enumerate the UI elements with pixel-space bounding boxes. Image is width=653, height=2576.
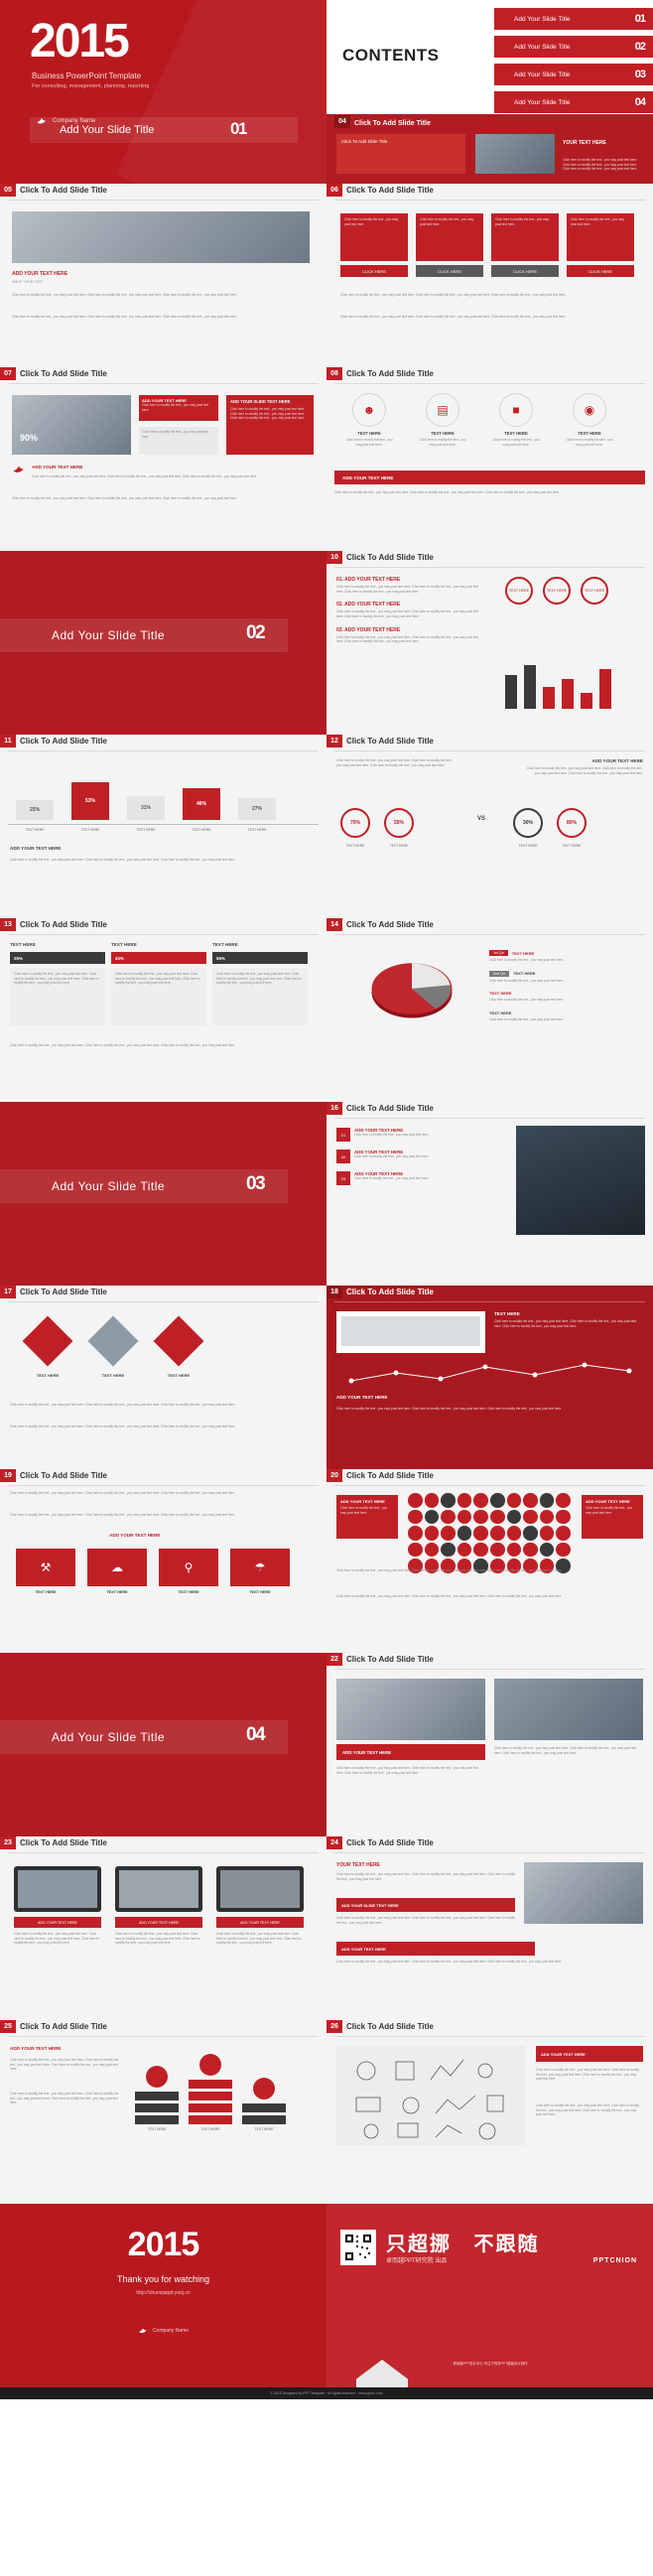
slide-13-num: 13 — [0, 918, 16, 931]
slide-18-num: 18 — [326, 1286, 342, 1298]
slide-07-body2: Click here to modify the text , you may … — [12, 496, 314, 501]
slide-04-title: Click To Add Slide Title — [354, 120, 431, 127]
slide-12-label-3: TEXT HERE — [513, 844, 543, 848]
slide-07-box2-title: ADD YOUR SLIDE TEXT HERE — [230, 399, 310, 404]
slide-05-body2: Click here to modify the text , you may … — [12, 315, 310, 320]
slide-19-body2: Click here to modify the text , you may … — [10, 1513, 313, 1518]
slide-23-item-1[interactable]: ADD YOUR TEXT HERE Click here to modify … — [14, 1866, 101, 1946]
slide-11-num: 11 — [0, 735, 16, 747]
slide-05-sub2: MAKE YOUR TEXT — [12, 280, 44, 284]
slide-14-num: 14 — [326, 918, 342, 931]
cloud-icon: ☁ — [87, 1549, 147, 1586]
slide-17-diamond-2-label: TEXT HERE — [95, 1373, 131, 1378]
slide-06-title: Click To Add Slide Title — [346, 186, 434, 195]
slide-24-body3: Click here to modify the text , you may … — [336, 1960, 639, 1965]
slide-17-body2: Click here to modify the text , you may … — [10, 1424, 313, 1429]
slide-04-photo — [475, 134, 555, 174]
slide-12-left-body: Click here to modify the text , you may … — [336, 758, 456, 767]
slide-14[interactable]: 14 Click To Add Slide Title 1st Qtr TEXT… — [326, 918, 653, 1102]
slide-05[interactable]: 05 Click To Add Slide Title ADD YOUR TEX… — [0, 184, 326, 367]
slide-08-body: Click here to modify the text , you may … — [334, 490, 645, 495]
slide-07-divider — [8, 383, 319, 384]
slide-22-photo-right — [494, 1679, 643, 1740]
slide-06[interactable]: 06 Click To Add Slide Title Click here t… — [326, 184, 653, 367]
ending-company: Company Name — [153, 2328, 189, 2334]
contents-item-3[interactable]: Add Your Slide Title 03 — [494, 64, 653, 85]
slide-12-right-body: Click here to modify the text , you may … — [524, 766, 643, 775]
slide-10-list-3-text: Click here to modify the text , you may … — [336, 635, 485, 644]
slide-14-legend-1: 1st Qtr TEXT HERE — [489, 950, 638, 956]
slide-11-pct-4: 46% — [183, 788, 220, 820]
slide-11-bar-3: 31% — [127, 796, 165, 820]
slide-07-box3-text: Click here to modify the text , you may … — [142, 430, 215, 439]
slide-17[interactable]: 17 Click To Add Slide Title TEXT HERE TE… — [0, 1286, 326, 1469]
slide-23-laptops: ADD YOUR TEXT HERE Click here to modify … — [14, 1866, 304, 1946]
slide-07-bird-icon — [12, 463, 26, 476]
slide-10-num: 10 — [326, 551, 342, 564]
divider-04-num: 04 — [246, 1724, 264, 1746]
bar-1 — [505, 675, 517, 709]
slide-11-pct-3: 31% — [127, 796, 165, 820]
slide-23-item-2[interactable]: ADD YOUR TEXT HERE Click here to modify … — [115, 1866, 202, 1946]
slide-23-cap-2: ADD YOUR TEXT HERE — [115, 1917, 202, 1928]
slide-12-label-2: TEXT HERE — [384, 844, 414, 848]
slide-12-left-pct-1: 70% — [340, 808, 370, 838]
slide-12[interactable]: 12 Click To Add Slide Title Click here t… — [326, 735, 653, 918]
slide-13-divider — [8, 934, 319, 935]
slide-divider-03[interactable]: Add Your Slide Title 03 — [0, 1102, 326, 1286]
slide-cover[interactable]: 2015 Business PowerPoint Template For co… — [0, 0, 326, 184]
slide-13-body: Click here to modify the text , you may … — [10, 1043, 313, 1048]
slide-06-card-4-text: Click here to modify the text , you may … — [571, 217, 630, 226]
slide-07-box2-text: Click here to modify the text , you may … — [230, 407, 310, 421]
promo-brand: PPTCNION — [593, 2257, 637, 2264]
slide-06-card-2-btn[interactable]: CLICK HERE — [416, 265, 483, 277]
slide-08-icon-4[interactable]: ◉ TEXT HERE Click here to modify the tex… — [565, 393, 614, 447]
slide-20-dot-matrix — [408, 1493, 571, 1551]
diamond-icon-3 — [154, 1316, 204, 1367]
slide-06-card-4-body: Click here to modify the text , you may … — [567, 213, 634, 261]
contents-item-1-num: 01 — [635, 13, 645, 25]
slide-11-pct-1: 25% — [16, 800, 54, 820]
slide-07-photo — [12, 395, 131, 455]
slide-05-photo — [12, 211, 310, 263]
slide-14-legend-3-label: TEXT HERE — [489, 991, 638, 996]
slide-10-bars — [505, 659, 611, 709]
slide-13-col-1-val: 25% — [10, 952, 105, 964]
slide-14-legend-2-chip: 2nd Qtr — [489, 971, 509, 977]
promo-cn-main: 只超挪 — [386, 2234, 452, 2255]
slide-25-body: Click here to modify the text , you may … — [10, 2058, 119, 2072]
slide-08-icon-2[interactable]: ▤ TEXT HERE Click here to modify the tex… — [418, 393, 467, 447]
slide-23-text-2: Click here to modify the text , you may … — [115, 1932, 202, 1946]
slide-promo[interactable]: 只超挪 不跟随 卓而越PPT研究院 出品 PPTCNION 卓而越PPT设计中心… — [326, 2204, 653, 2387]
slide-19-tile-3[interactable]: ⚲ TEXT HERE — [159, 1549, 218, 1594]
slide-08-icon-2-text: Click here to modify the text , you may … — [418, 438, 467, 447]
slide-20-head-right: ADD YOUR TEXT HERE — [586, 1499, 639, 1504]
people-icon: ☻ — [352, 393, 386, 427]
slide-26-body2: Click here to modify the text , you may … — [536, 2103, 643, 2117]
slide-04-head: Click To Add Slide Title — [336, 134, 465, 150]
slide-08-icon-4-text: Click here to modify the text , you may … — [565, 438, 614, 447]
slide-17-body: Click here to modify the text , you may … — [10, 1403, 313, 1408]
slide-19-head: ADD YOUR TEXT HERE — [109, 1533, 160, 1538]
slide-16-row-2-body: ADD YOUR TEXT HERE Click here to modify … — [354, 1150, 505, 1163]
slide-26-title: Click To Add Slide Title — [346, 2022, 434, 2031]
contents-item-4-label: Add Your Slide Title — [514, 99, 570, 106]
slide-07-box1-text: Click here to modify the text , you may … — [142, 403, 215, 412]
slide-ending[interactable]: 2015 Thank you for watching http://zhuoq… — [0, 2204, 326, 2387]
slide-14-legend-1-text: Click here to modify the text , you may … — [489, 958, 638, 963]
slide-18-head: TEXT HERE — [494, 1311, 643, 1316]
slide-14-legend-4-text: Click here to modify the text , you may … — [489, 1017, 638, 1022]
slide-13[interactable]: 13 Click To Add Slide Title TEXT HERE TE… — [0, 918, 326, 1102]
slide-17-diamond-3-label: TEXT HERE — [161, 1373, 196, 1378]
slide-13-col-3-val: 55% — [212, 952, 308, 964]
diamond-icon-1 — [23, 1316, 73, 1367]
slide-08-banner: ADD YOUR TEXT HERE — [334, 471, 645, 484]
slide-11-title: Click To Add Slide Title — [20, 737, 107, 746]
slide-12-labels-left: TEXT HERE TEXT HERE — [340, 844, 414, 848]
slide-14-divider — [334, 934, 645, 935]
slide-04-num: 04 — [334, 115, 350, 128]
slide-06-card-3-text: Click here to modify the text , you may … — [495, 217, 555, 226]
slide-10-chip-1[interactable]: TEXT HERE — [505, 577, 533, 605]
slide-16-title: Click To Add Slide Title — [346, 1104, 434, 1113]
slide-17-title: Click To Add Slide Title — [20, 1288, 107, 1296]
divider-02-num: 02 — [246, 622, 264, 644]
slide-16-row-3-body: ADD YOUR TEXT HERE Click here to modify … — [354, 1171, 505, 1185]
slide-19-body: Click here to modify the text , you may … — [10, 1491, 313, 1496]
slide-12-head: ADD YOUR TEXT HERE — [524, 758, 643, 763]
slide-23-cap-1: ADD YOUR TEXT HERE — [14, 1917, 101, 1928]
slide-11-pct-5: 27% — [238, 798, 276, 820]
slide-20-num: 20 — [326, 1469, 342, 1482]
contents-item-4[interactable]: Add Your Slide Title 04 — [494, 91, 653, 113]
slide-16[interactable]: 16 Click To Add Slide Title 01 ADD YOUR … — [326, 1102, 653, 1286]
slide-06-card-1[interactable]: Click here to modify the text , you may … — [340, 213, 408, 277]
qr-code-icon — [340, 2230, 376, 2265]
slide-14-legend-2-text: Click here to modify the text , you may … — [489, 979, 638, 984]
slide-20-text-left: Click here to modify the text , you may … — [340, 1506, 394, 1515]
slide-18-right: TEXT HERE Click here to modify the text … — [494, 1311, 643, 1328]
row-5: 11 Click To Add Slide Title 25% 53% 31% … — [0, 735, 653, 918]
slide-divider-04[interactable]: Add Your Slide Title 04 — [0, 1653, 326, 1836]
slide-06-card-4[interactable]: Click here to modify the text , you may … — [567, 213, 634, 277]
slide-14-piechart — [366, 954, 457, 1028]
tools-icon: ⚒ — [16, 1549, 75, 1586]
slide-20[interactable]: 20 Click To Add Slide Title ADD YOUR TEX… — [326, 1469, 653, 1653]
slide-12-divider — [334, 750, 645, 751]
slide-06-num: 06 — [326, 184, 342, 197]
slide-05-sub: ADD YOUR TEXT HERE — [12, 271, 67, 277]
slide-17-diamond-1-label: TEXT HERE — [30, 1373, 65, 1378]
slide-16-row-1[interactable]: 01 ADD YOUR TEXT HERE Click here to modi… — [336, 1128, 505, 1142]
contents-item-2-label: Add Your Slide Title — [514, 44, 570, 51]
slide-13-col-2-val: 40% — [111, 952, 206, 964]
slide-04-body: Click here to modify the text , you may … — [563, 158, 644, 172]
slide-11-bar-4: 46% — [183, 788, 220, 820]
row-1: 2015 Business PowerPoint Template For co… — [0, 0, 653, 184]
slide-25-col-1-label: TEXT HERE — [135, 2127, 179, 2131]
slide-contents[interactable]: CONTENTS Add Your Slide Title 01 Add You… — [326, 0, 653, 184]
slide-19-tile-2[interactable]: ☁ TEXT HERE — [87, 1549, 147, 1594]
slide-16-row-1-body: ADD YOUR TEXT HERE Click here to modify … — [354, 1128, 505, 1142]
slide-10-list-2: 02. ADD YOUR TEXT HERE — [336, 602, 485, 608]
slide-13-title: Click To Add Slide Title — [20, 920, 107, 929]
slide-25-title: Click To Add Slide Title — [20, 2022, 107, 2031]
bar-2 — [524, 665, 536, 709]
slide-06-card-3[interactable]: Click here to modify the text , you may … — [491, 213, 559, 277]
cover-band-title: Add Your Slide Title — [60, 124, 154, 136]
slide-07-badge: 90% — [20, 433, 38, 443]
slide-08-icons: ☻ TEXT HERE Click here to modify the tex… — [344, 393, 614, 447]
slide-16-row-2-text: Click here to modify the text , you may … — [354, 1154, 505, 1159]
slide-10-title: Click To Add Slide Title — [346, 553, 434, 562]
promo-cn-main2: 不跟随 — [473, 2234, 539, 2255]
slide-23-item-3[interactable]: ADD YOUR TEXT HERE Click here to modify … — [216, 1866, 304, 1946]
slide-25-col-3: TEXT HERE — [242, 2078, 286, 2131]
slide-18-screen-inner — [341, 1316, 480, 1346]
slide-26-illustration — [336, 2046, 525, 2145]
slide-23-text-1: Click here to modify the text , you may … — [14, 1932, 101, 1946]
slide-11-divider — [8, 750, 319, 751]
row-2: 05 Click To Add Slide Title ADD YOUR TEX… — [0, 184, 653, 367]
slide-11[interactable]: 11 Click To Add Slide Title 25% 53% 31% … — [0, 735, 326, 918]
slide-19-tile-3-label: TEXT HERE — [159, 1590, 218, 1594]
slide-10[interactable]: 10 Click To Add Slide Title 01. ADD YOUR… — [326, 551, 653, 735]
slide-08-divider — [334, 383, 645, 384]
slide-19-divider — [8, 1485, 319, 1486]
globe-icon: ◉ — [573, 393, 606, 427]
slide-11-bar-1: 25% — [16, 800, 54, 820]
slide-22-title: Click To Add Slide Title — [346, 1655, 434, 1664]
slide-16-rows: 01 ADD YOUR TEXT HERE Click here to modi… — [336, 1128, 505, 1185]
search-icon: ⚲ — [159, 1549, 218, 1586]
slide-24-head: YOUR TEXT HERE — [336, 1862, 380, 1868]
promo-text-block: 只超挪 不跟随 — [386, 2228, 539, 2256]
slide-24-title: Click To Add Slide Title — [346, 1838, 434, 1847]
slide-18-title: Click To Add Slide Title — [346, 1288, 434, 1296]
slide-06-card-3-body: Click here to modify the text , you may … — [491, 213, 559, 261]
slide-10-chips: TEXT HERE TEXT HERE TEXT HERE — [505, 577, 608, 605]
slide-22-head: ADD YOUR TEXT HERE — [336, 1744, 485, 1760]
slide-12-vs: VS — [477, 816, 485, 822]
slide-16-row-1-num: 01 — [336, 1128, 350, 1142]
slide-11-bars: 25% 53% 31% 46% 27% — [16, 768, 276, 820]
slide-17-diamond-3[interactable]: TEXT HERE — [161, 1323, 196, 1378]
slide-08-icon-3-label: TEXT HERE — [491, 431, 541, 436]
slide-25-num: 25 — [0, 2020, 16, 2033]
slide-26-divider — [334, 2036, 645, 2037]
slide-25-col-2: TEXT HERE — [189, 2054, 232, 2131]
slide-18-screen — [336, 1311, 485, 1353]
slide-10-list-1: 01. ADD YOUR TEXT HERE — [336, 577, 485, 583]
slide-14-legend-2: 2nd Qtr TEXT HERE — [489, 971, 638, 977]
slide-22-photo-left — [336, 1679, 485, 1740]
slide-19-tiles: ⚒ TEXT HERE ☁ TEXT HERE ⚲ TEXT HERE ☂ TE… — [16, 1549, 290, 1594]
slide-14-title: Click To Add Slide Title — [346, 920, 434, 929]
slide-06-card-4-btn[interactable]: CLICK HERE — [567, 265, 634, 277]
slide-16-row-2-num: 02 — [336, 1150, 350, 1163]
slide-06-card-1-btn[interactable]: CLICK HERE — [340, 265, 408, 277]
divider-02-title: Add Your Slide Title — [52, 628, 165, 642]
slide-10-list: 01. ADD YOUR TEXT HERE Click here to mod… — [336, 577, 485, 644]
slide-13-col-2: 40% Click here to modify the text , you … — [111, 952, 206, 1025]
slide-17-diamond-1[interactable]: TEXT HERE — [30, 1323, 65, 1378]
slide-divider-02[interactable]: Add Your Slide Title 02 — [0, 551, 326, 735]
deck-preview: 2015 Business PowerPoint Template For co… — [0, 0, 653, 2399]
laptop-icon-3 — [216, 1866, 304, 1912]
bar-4 — [562, 679, 574, 709]
slide-08-icon-3-text: Click here to modify the text , you may … — [491, 438, 541, 447]
contents-item-2[interactable]: Add Your Slide Title 02 — [494, 36, 653, 58]
slide-08[interactable]: 08 Click To Add Slide Title ☻ TEXT HERE … — [326, 367, 653, 551]
slide-13-col-2-body: Click here to modify the text , you may … — [111, 968, 206, 1025]
slide-22-body-left: Click here to modify the text , you may … — [336, 1766, 485, 1775]
slide-23-divider — [8, 1852, 319, 1853]
row-9: 19 Click To Add Slide Title Click here t… — [0, 1469, 653, 1653]
slide-14-legend-3-text: Click here to modify the text , you may … — [489, 998, 638, 1003]
slide-25-stack-group: TEXT HERE TEXT HERE TEXT HERE — [135, 2054, 286, 2131]
slide-16-row-3[interactable]: 03 ADD YOUR TEXT HERE Click here to modi… — [336, 1171, 505, 1185]
slide-16-divider — [334, 1118, 645, 1119]
slide-22-num: 22 — [326, 1653, 342, 1666]
bird-logo-icon — [138, 2326, 148, 2336]
slide-08-icon-4-label: TEXT HERE — [565, 431, 614, 436]
slide-14-legend-2-label: TEXT HERE — [513, 971, 535, 976]
slide-19-tile-1[interactable]: ⚒ TEXT HERE — [16, 1549, 75, 1594]
slide-20-box-left: ADD YOUR TEXT HERE Click here to modify … — [336, 1495, 398, 1539]
slide-18[interactable]: 18 Click To Add Slide Title TEXT HERE Cl… — [326, 1286, 653, 1469]
slide-12-right-pct-2: 80% — [557, 808, 587, 838]
slide-07-box3: Click here to modify the text , you may … — [139, 427, 218, 455]
slide-13-col-3-text: Click here to modify the text , you may … — [216, 972, 304, 986]
divider-03-title: Add Your Slide Title — [52, 1179, 165, 1193]
slide-10-list-3: 03. ADD YOUR TEXT HERE — [336, 627, 485, 633]
diamond-photo-2 — [88, 1316, 139, 1367]
slide-16-row-2[interactable]: 02 ADD YOUR TEXT HERE Click here to modi… — [336, 1150, 505, 1163]
slide-11-foot: ADD YOUR TEXT HERE — [10, 846, 61, 851]
slide-22[interactable]: 22 Click To Add Slide Title ADD YOUR TEX… — [326, 1653, 653, 1836]
slide-11-body: Click here to modify the text , you may … — [10, 858, 313, 863]
slide-13-head-2: TEXT HERE — [111, 942, 206, 947]
slide-11-axis — [8, 824, 319, 825]
slide-19-tile-4[interactable]: ☂ TEXT HERE — [230, 1549, 290, 1594]
slide-26[interactable]: 26 Click To Add Slide Title ADD YOUR TEX… — [326, 2020, 653, 2204]
slide-11-labels: TEXT HERE TEXT HERE TEXT HERE TEXT HERE … — [16, 828, 276, 832]
slide-17-diamond-2[interactable]: TEXT HERE — [95, 1323, 131, 1378]
row-3: 07 Click To Add Slide Title ADD YOUR TEX… — [0, 367, 653, 551]
slide-08-icon-3[interactable]: ■ TEXT HERE Click here to modify the tex… — [491, 393, 541, 447]
slide-19-tile-2-label: TEXT HERE — [87, 1590, 147, 1594]
slide-06-card-2[interactable]: Click here to modify the text , you may … — [416, 213, 483, 277]
slide-23-cap-3: ADD YOUR TEXT HERE — [216, 1917, 304, 1928]
ending-thanks: Thank you for watching — [0, 2274, 326, 2284]
slide-10-list-1-text: Click here to modify the text , you may … — [336, 585, 485, 594]
bar-3 — [543, 687, 555, 709]
cover-band-num: 01 — [230, 119, 246, 139]
slide-07-box2: ADD YOUR SLIDE TEXT HERE Click here to m… — [226, 395, 314, 455]
slide-25-head: ADD YOUR TEXT HERE — [10, 2046, 61, 2051]
slide-25-col-3-label: TEXT HERE — [242, 2127, 286, 2131]
slide-24-body2: Click here to modify the text , you may … — [336, 1916, 515, 1925]
slide-05-num: 05 — [0, 184, 16, 197]
slide-12-left-pct-2: 55% — [384, 808, 414, 838]
slide-06-card-1-text: Click here to modify the text , you may … — [344, 217, 404, 226]
slide-08-icon-1[interactable]: ☻ TEXT HERE Click here to modify the tex… — [344, 393, 394, 447]
slide-23[interactable]: 23 Click To Add Slide Title ADD YOUR TEX… — [0, 1836, 326, 2020]
slide-24-photo — [524, 1862, 643, 1924]
slide-19[interactable]: 19 Click To Add Slide Title Click here t… — [0, 1469, 326, 1653]
slide-16-row-3-num: 03 — [336, 1171, 350, 1185]
slide-19-num: 19 — [0, 1469, 16, 1482]
slide-13-col-1-text: Click here to modify the text , you may … — [14, 972, 101, 986]
slide-26-body: Click here to modify the text , you may … — [536, 2068, 643, 2082]
promo-note: 卓而越PPT设计中心 专注于商务PPT模板设计制作 — [366, 2361, 614, 2366]
slide-12-label-1: TEXT HERE — [340, 844, 370, 848]
slide-17-divider — [8, 1301, 319, 1302]
slide-13-head-1: TEXT HERE — [10, 942, 105, 947]
slide-10-chip-2[interactable]: TEXT HERE — [543, 577, 571, 605]
slide-20-title: Click To Add Slide Title — [346, 1471, 434, 1480]
slide-06-card-2-body: Click here to modify the text , you may … — [416, 213, 483, 261]
slide-20-text-right: Click here to modify the text , you may … — [586, 1506, 639, 1515]
row-7: Add Your Slide Title 03 16 Click To Add … — [0, 1102, 653, 1286]
slide-24-b2: ADD YOUR TEXT HERE — [336, 1942, 535, 1956]
slide-10-list-2-text: Click here to modify the text , you may … — [336, 610, 485, 618]
row-12: 25 Click To Add Slide Title ADD YOUR TEX… — [0, 2020, 653, 2204]
slide-25[interactable]: 25 Click To Add Slide Title ADD YOUR TEX… — [0, 2020, 326, 2204]
slide-07[interactable]: 07 Click To Add Slide Title ADD YOUR TEX… — [0, 367, 326, 551]
slide-06-card-1-body: Click here to modify the text , you may … — [340, 213, 408, 261]
slide-13-cols: 25% Click here to modify the text , you … — [10, 952, 308, 1025]
slide-24[interactable]: 24 Click To Add Slide Title YOUR TEXT HE… — [326, 1836, 653, 2020]
slide-18-linechart — [346, 1361, 634, 1387]
slide-12-num: 12 — [326, 735, 342, 747]
slide-22-divider — [334, 1669, 645, 1670]
slide-06-divider — [334, 200, 645, 201]
contents-item-3-label: Add Your Slide Title — [514, 71, 570, 78]
slide-06-card-3-btn[interactable]: CLICK HERE — [491, 265, 559, 277]
slide-11-label-2: TEXT HERE — [71, 828, 109, 832]
ending-logo-row: Company Name — [0, 2326, 326, 2336]
contents-item-4-num: 04 — [635, 96, 645, 108]
slide-08-icon-2-label: TEXT HERE — [418, 431, 467, 436]
slide-10-divider — [334, 567, 645, 568]
slide-06-body2: Click here to modify the text , you may … — [340, 315, 638, 320]
slide-08-num: 08 — [326, 367, 342, 380]
slide-06-body: Click here to modify the text , you may … — [340, 293, 638, 298]
slide-20-body2: Click here to modify the text , you may … — [336, 1594, 639, 1599]
contents-item-1[interactable]: Add Your Slide Title 01 — [494, 8, 653, 30]
slide-24-b1: ADD YOUR SLIDE TEXT HERE — [336, 1898, 515, 1912]
slide-16-photo — [516, 1126, 645, 1235]
slide-12-title: Click To Add Slide Title — [346, 737, 434, 746]
slide-07-foot: ADD YOUR TEXT HERE — [32, 465, 82, 470]
slide-11-label-3: TEXT HERE — [127, 828, 165, 832]
contents-title: CONTENTS — [342, 46, 440, 66]
slide-06-cards: Click here to modify the text , you may … — [340, 213, 634, 277]
slide-25-divider — [8, 2036, 319, 2037]
slide-07-body: Click here to modify the text , you may … — [32, 475, 314, 479]
slide-10-chip-3[interactable]: TEXT HERE — [581, 577, 608, 605]
slide-16-row-3-text: Click here to modify the text , you may … — [354, 1176, 505, 1181]
divider-03-num: 03 — [246, 1173, 264, 1195]
slide-08-icon-1-text: Click here to modify the text , you may … — [344, 438, 394, 447]
slide-11-label-4: TEXT HERE — [183, 828, 220, 832]
slide-20-head-left: ADD YOUR TEXT HERE — [340, 1499, 394, 1504]
